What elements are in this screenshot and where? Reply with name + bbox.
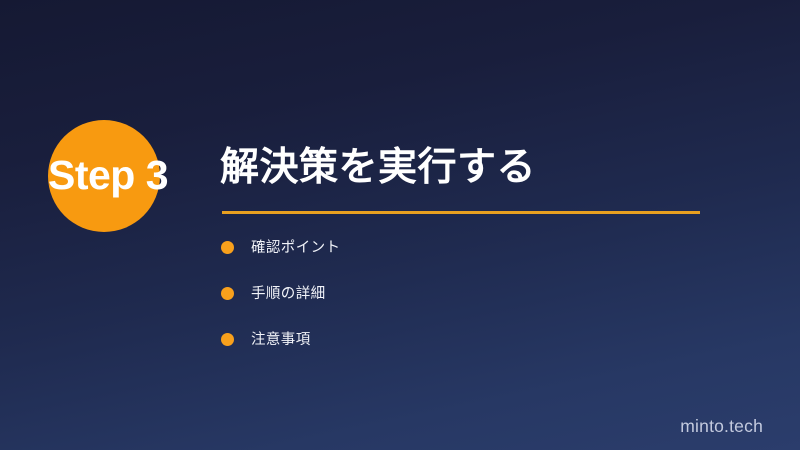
- footer-brand: minto.tech: [680, 416, 763, 436]
- list-item: 注意事項: [221, 332, 651, 378]
- bullet-dot-icon: [221, 333, 234, 346]
- bullet-dot-icon: [221, 287, 234, 300]
- list-item-label: 確認ポイント: [251, 240, 340, 256]
- slide-canvas: Step 3 解決策を実行する 確認ポイント 手順の詳細 注意事項 minto.…: [0, 0, 800, 450]
- list-item-label: 手順の詳細: [251, 286, 326, 302]
- title-divider: [222, 211, 700, 214]
- list-item: 確認ポイント: [221, 240, 651, 286]
- list-item-label: 注意事項: [251, 332, 311, 348]
- bullet-dot-icon: [221, 241, 234, 254]
- bullet-list: 確認ポイント 手順の詳細 注意事項: [221, 240, 651, 378]
- list-item: 手順の詳細: [221, 286, 651, 332]
- slide-title: 解決策を実行する: [220, 143, 536, 193]
